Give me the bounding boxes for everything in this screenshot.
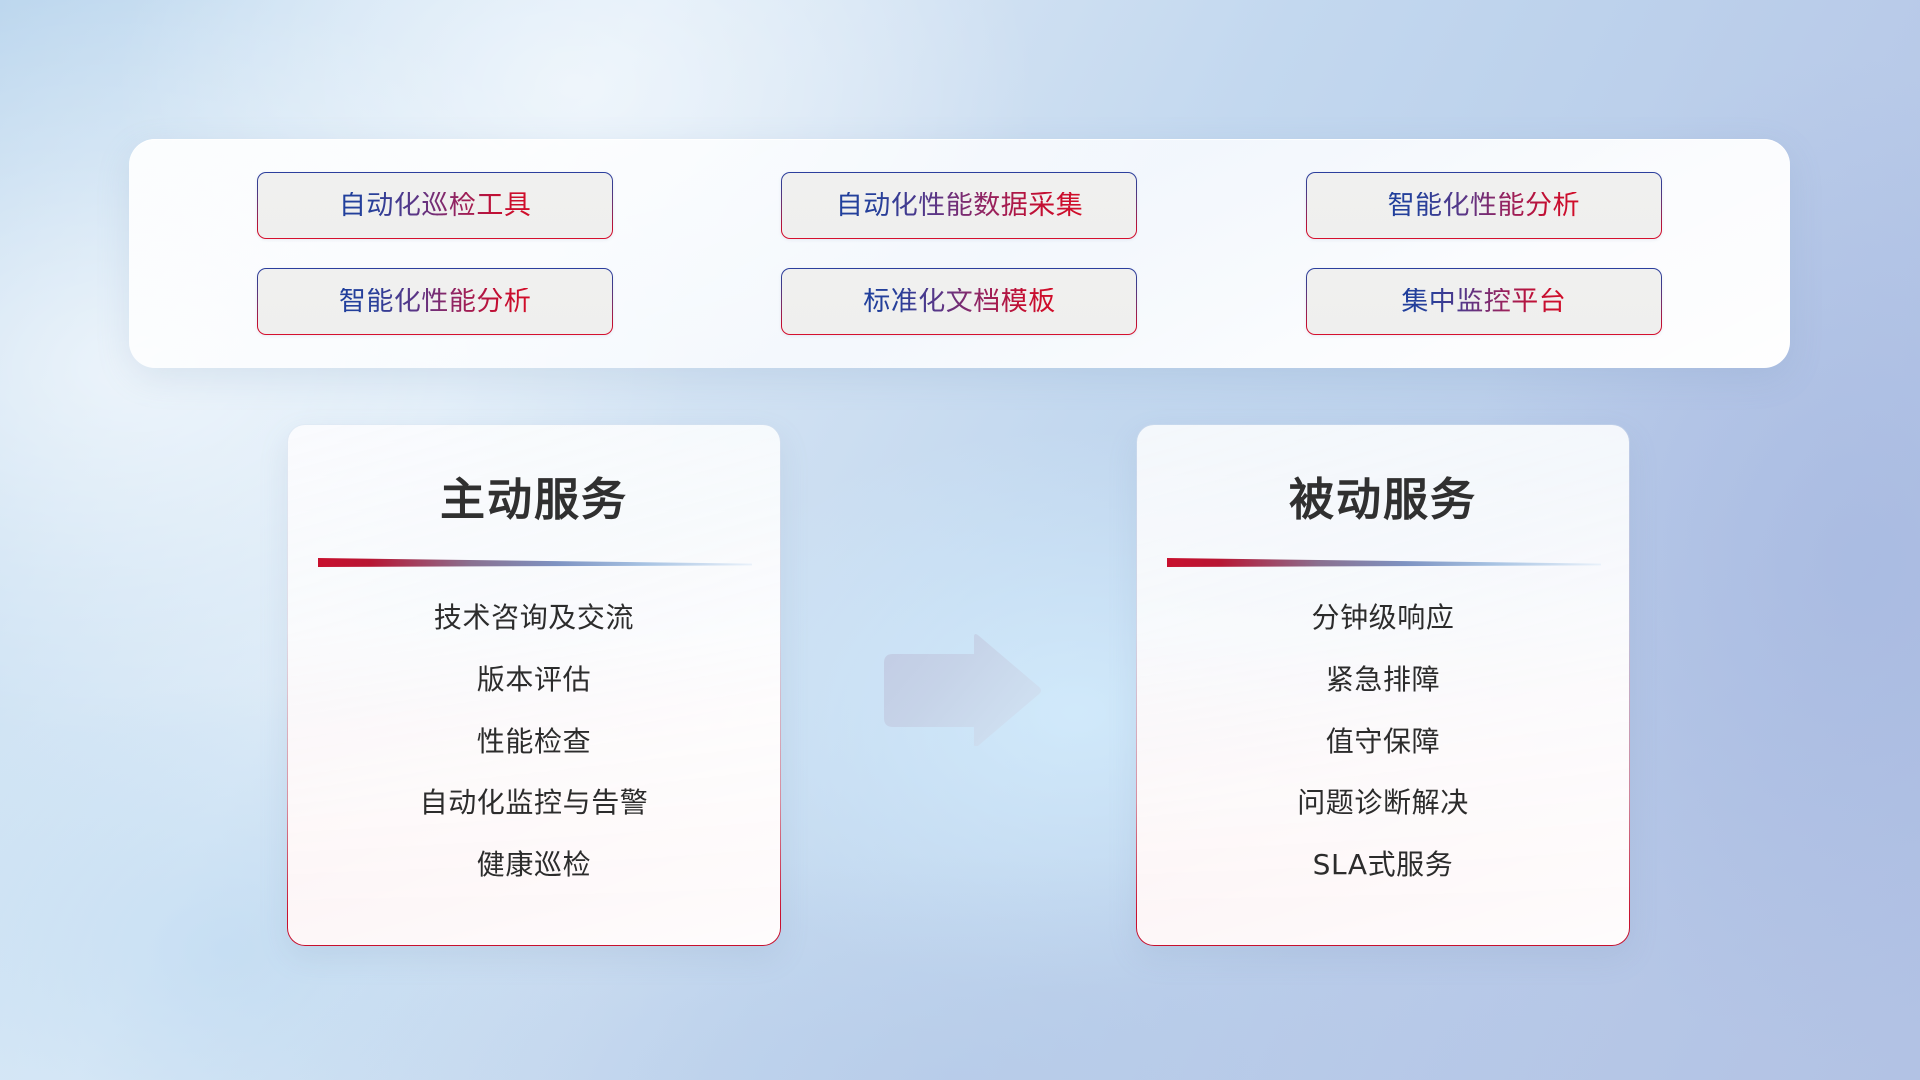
capability-grid: 自动化巡检工具 自动化性能数据采集 智能化性能分析 智能化性能分析 标准化文档模…	[129, 139, 1790, 368]
capability-pill-6[interactable]: 集中监控平台	[1306, 268, 1662, 335]
service-item: 健康巡检	[477, 850, 591, 881]
service-item: 问题诊断解决	[1297, 788, 1469, 819]
capability-pill-2[interactable]: 自动化性能数据采集	[781, 172, 1137, 239]
capability-pill-5[interactable]: 标准化文档模板	[781, 268, 1137, 335]
service-card-title: 被动服务	[1137, 463, 1629, 528]
service-card-reactive: 被动服务 分钟级响应 紧急排障 值守保障 问题诊断解决 SLA式服务	[1136, 424, 1630, 946]
capability-pill-label: 自动化巡检工具	[339, 192, 532, 219]
service-item: 值守保障	[1326, 727, 1440, 758]
capability-pill-label: 集中监控平台	[1401, 288, 1566, 315]
capability-pill-label: 智能化性能分析	[339, 288, 532, 315]
capability-pill-3[interactable]: 智能化性能分析	[1306, 172, 1662, 239]
service-item: SLA式服务	[1313, 850, 1454, 881]
service-item: 分钟级响应	[1311, 603, 1454, 634]
service-item: 技术咨询及交流	[434, 603, 634, 634]
service-card-divider	[318, 555, 752, 568]
capability-pill-4[interactable]: 智能化性能分析	[257, 268, 613, 335]
capability-panel: 自动化巡检工具 自动化性能数据采集 智能化性能分析 智能化性能分析 标准化文档模…	[129, 139, 1790, 368]
service-card-item-list: 技术咨询及交流 版本评估 性能检查 自动化监控与告警 健康巡检	[288, 603, 780, 881]
service-item: 紧急排障	[1326, 665, 1440, 696]
capability-pill-1[interactable]: 自动化巡检工具	[257, 172, 613, 239]
service-item: 自动化监控与告警	[420, 788, 649, 819]
service-item: 性能检查	[477, 727, 591, 758]
capability-pill-label: 标准化文档模板	[863, 288, 1056, 315]
service-card-divider	[1167, 555, 1601, 568]
arrow-right-icon	[876, 632, 1044, 746]
service-item: 版本评估	[477, 665, 591, 696]
capability-pill-label: 智能化性能分析	[1388, 192, 1581, 219]
service-card-title: 主动服务	[288, 463, 780, 528]
capability-pill-label: 自动化性能数据采集	[836, 192, 1084, 219]
service-card-item-list: 分钟级响应 紧急排障 值守保障 问题诊断解决 SLA式服务	[1137, 603, 1629, 881]
service-card-proactive: 主动服务 技术咨询及交流 版本评估 性能检查 自动化监控与告警 健康巡检	[287, 424, 781, 946]
